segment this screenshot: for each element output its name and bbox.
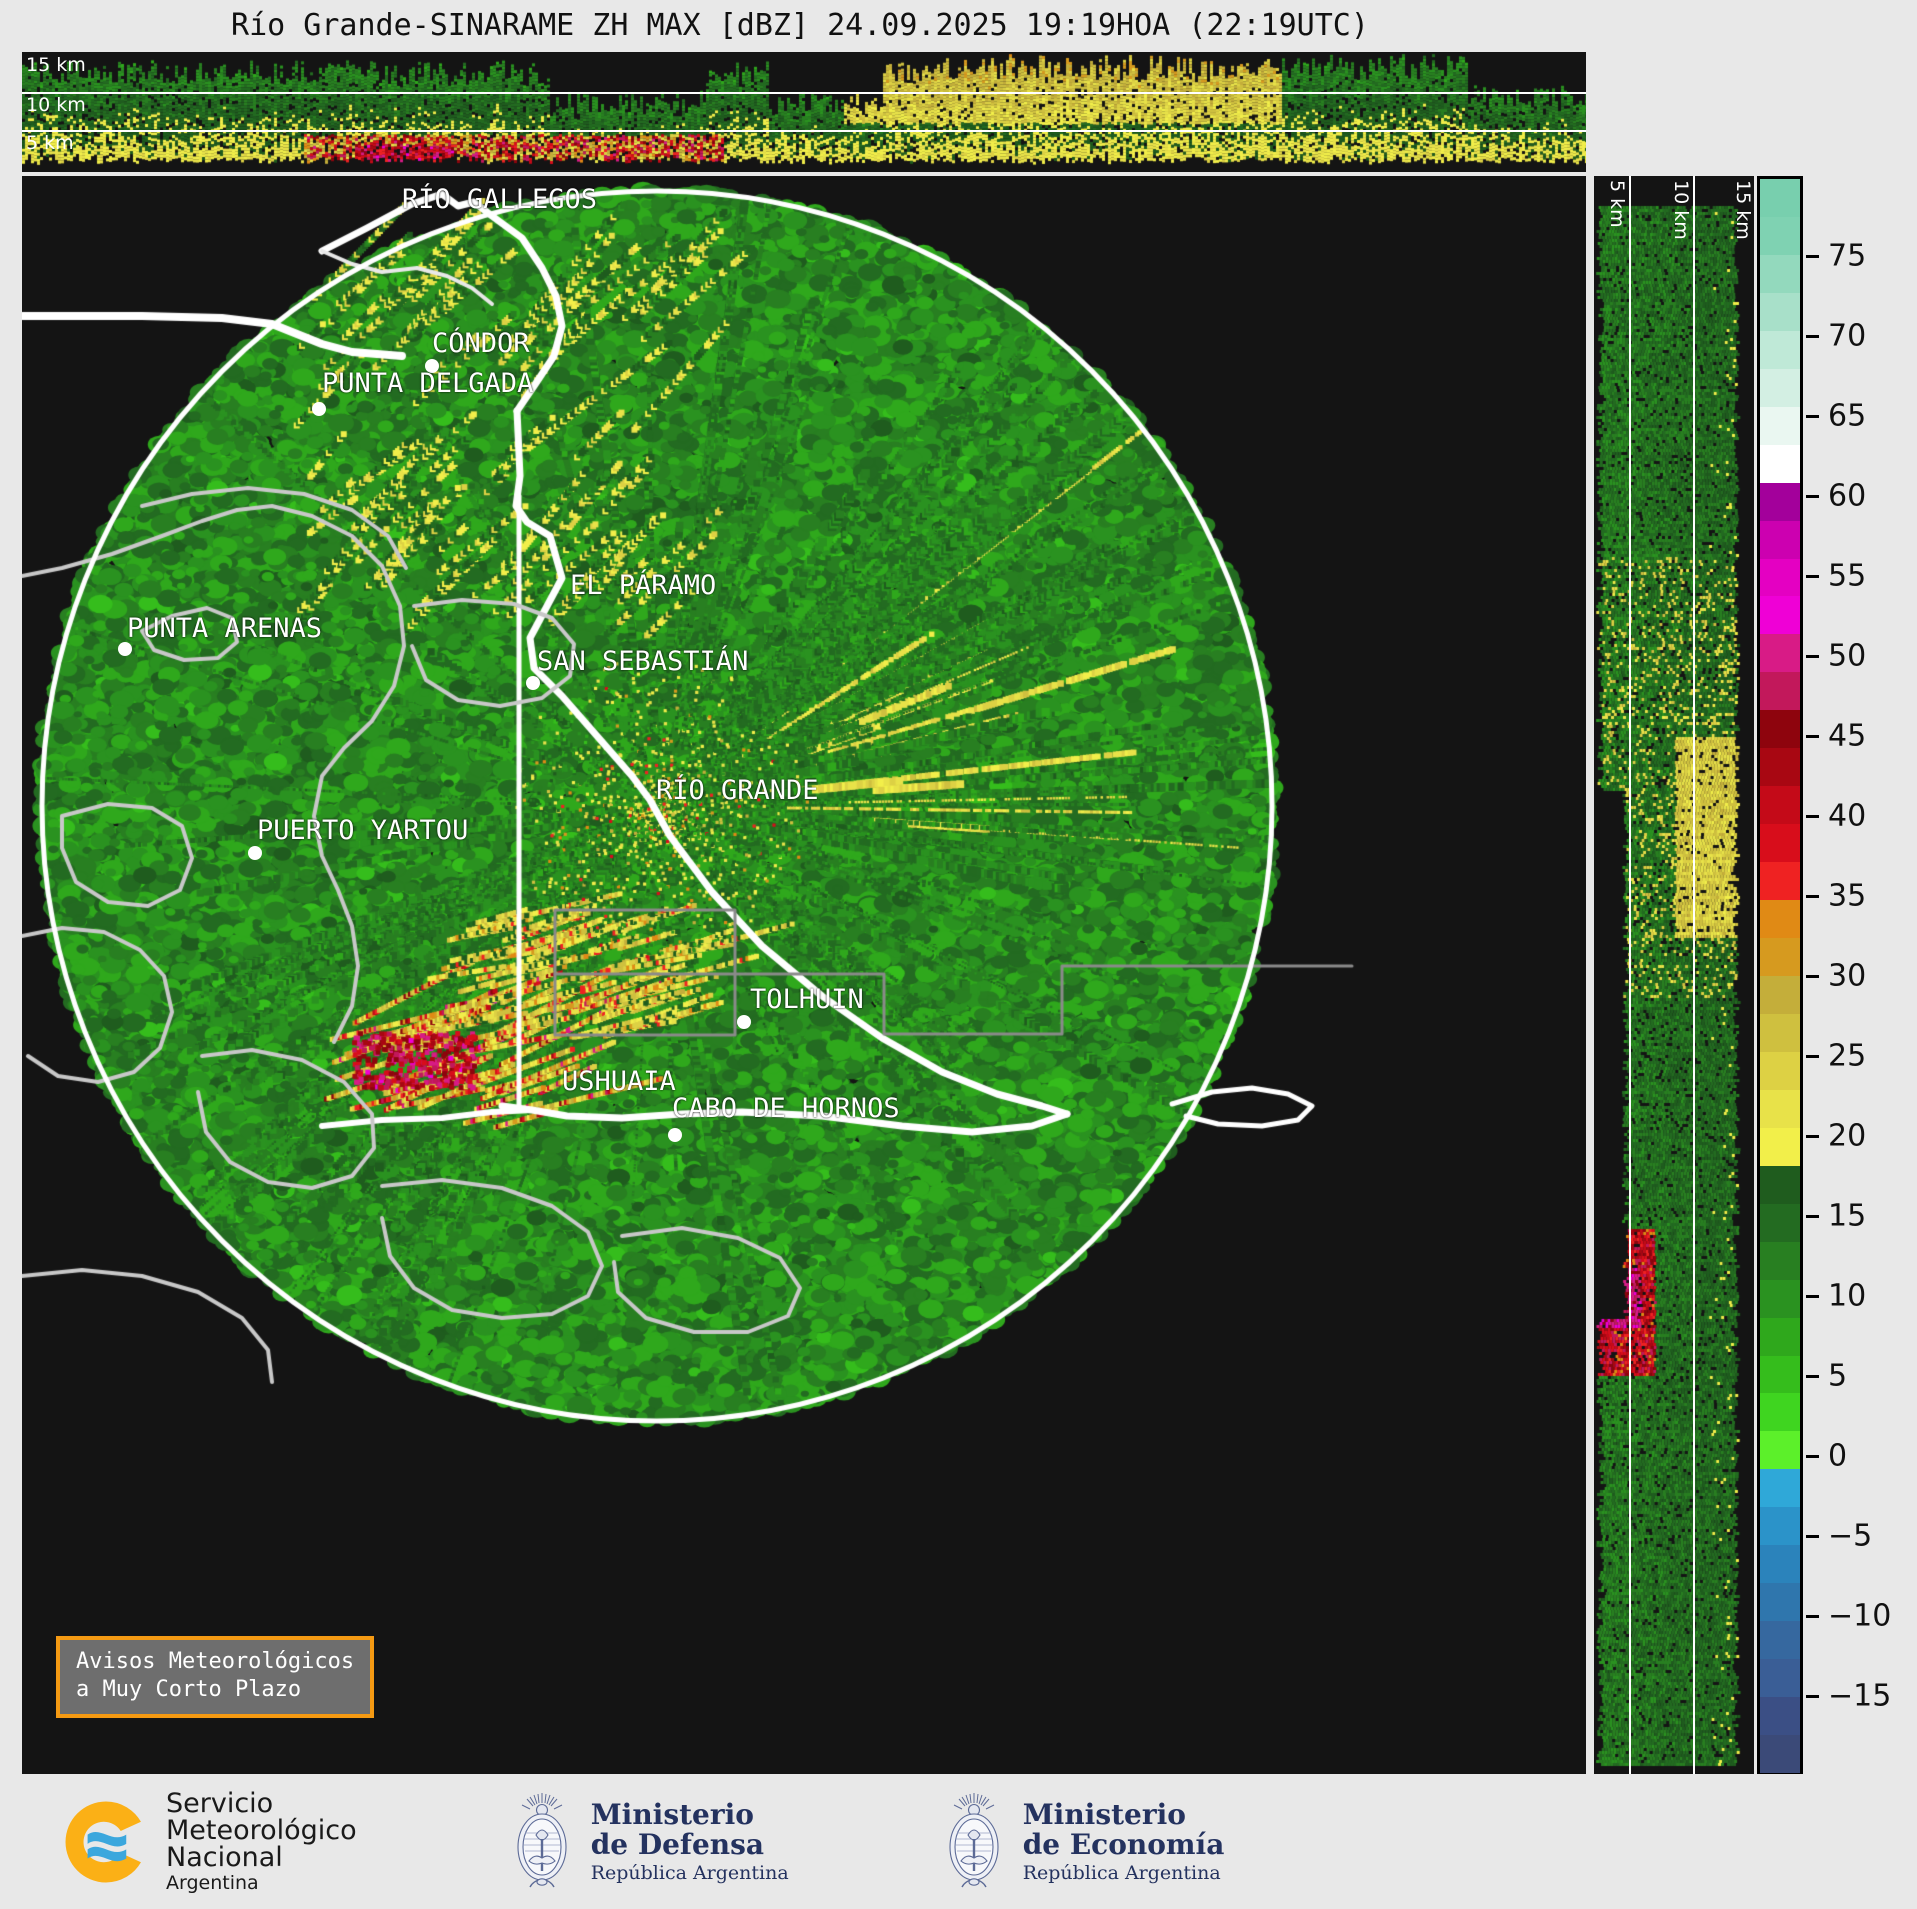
rxsec-label-10km: 10 km <box>1670 180 1692 240</box>
colorbar-band-2 <box>1760 1659 1800 1697</box>
right-cross-section-panel: 5 km 10 km 15 km <box>1594 176 1754 1776</box>
tick-label: 25 <box>1828 1039 1866 1074</box>
radar-reflectivity-canvas[interactable] <box>22 176 1586 1776</box>
smn-line4: Argentina <box>166 1874 357 1893</box>
city-label-punta-arenas: PUNTA ARENAS <box>127 613 322 644</box>
colorbar-band-39 <box>1760 255 1800 293</box>
tick-label: 15 <box>1828 1199 1866 1234</box>
colorbar-band-31 <box>1760 559 1800 597</box>
colorbar-band-28 <box>1760 672 1800 710</box>
colorbar-tick-labels: −15−10−5051015202530354045505560657075 <box>1806 176 1916 1776</box>
colorbar-gradient <box>1760 179 1800 1773</box>
smn-line2: Meteorológico <box>166 1817 357 1844</box>
rxsec-label-5km: 5 km <box>1606 180 1628 228</box>
tick-label: 35 <box>1828 879 1866 914</box>
colorbar-band-5 <box>1760 1545 1800 1583</box>
logo-ministerio-de-defensa: Ministerio de Defensa República Argentin… <box>507 1789 789 1894</box>
city-label-río-gallegos: RÍO GALLEGOS <box>402 184 597 215</box>
argentina-coat-of-arms-icon <box>507 1789 577 1894</box>
tick-mark <box>1806 1055 1819 1058</box>
colorbar-band-10 <box>1760 1356 1800 1394</box>
warnbox-line2: a Muy Corto Plazo <box>76 1676 354 1704</box>
city-label-punta-delgada: PUNTA DELGADA <box>322 368 533 399</box>
city-label-puerto-yartou: PUERTO YARTOU <box>257 815 468 846</box>
city-marker-dot <box>248 846 262 860</box>
tick-mark <box>1806 975 1819 978</box>
colorbar-band-19 <box>1760 1014 1800 1052</box>
top-cross-section-canvas <box>22 52 1586 172</box>
mineco-line3: República Argentina <box>1023 1863 1225 1883</box>
logo-servicio-meteorologico-nacional: Servicio Meteorológico Nacional Argentin… <box>60 1790 357 1893</box>
tick-label: 60 <box>1828 479 1866 514</box>
colorbar-band-15 <box>1760 1166 1800 1204</box>
tick-mark <box>1806 1695 1819 1698</box>
colorbar-band-32 <box>1760 521 1800 559</box>
colorbar-band-1 <box>1760 1697 1800 1735</box>
colorbar-band-13 <box>1760 1242 1800 1280</box>
xsec-label-10km: 10 km <box>26 96 86 115</box>
tick-mark <box>1806 495 1819 498</box>
tick-label: 70 <box>1828 319 1866 354</box>
colorbar-band-33 <box>1760 483 1800 521</box>
xsec-label-5km: 5 km <box>26 134 74 153</box>
top-cross-section-panel: 15 km 10 km 5 km <box>22 52 1586 172</box>
rxsec-gridline-10km <box>1693 176 1695 1776</box>
tick-label: 75 <box>1828 239 1866 274</box>
city-label-san-sebastián: SAN SEBASTIÁN <box>537 646 748 677</box>
tick-mark <box>1806 1455 1819 1458</box>
city-marker-dot <box>668 1128 682 1142</box>
tick-mark <box>1806 655 1819 658</box>
tick-mark <box>1806 735 1819 738</box>
colorbar-band-16 <box>1760 1128 1800 1166</box>
rxsec-label-15km: 15 km <box>1732 180 1754 240</box>
tick-mark <box>1806 415 1819 418</box>
city-label-cóndor: CÓNDOR <box>432 328 530 359</box>
colorbar-band-9 <box>1760 1393 1800 1431</box>
tick-mark <box>1806 815 1819 818</box>
tick-label: 55 <box>1828 559 1866 594</box>
city-label-el-páramo: EL PÁRAMO <box>570 570 716 601</box>
radar-product-page: Río Grande-SINARAME ZH MAX [dBZ] 24.09.2… <box>0 0 1917 1909</box>
colorbar-band-29 <box>1760 634 1800 672</box>
smn-line1: Servicio <box>166 1790 357 1817</box>
tick-mark <box>1806 1375 1819 1378</box>
tick-label: 5 <box>1828 1359 1847 1394</box>
colorbar-band-7 <box>1760 1469 1800 1507</box>
xsec-label-15km: 15 km <box>26 56 86 75</box>
tick-label: −10 <box>1828 1599 1891 1634</box>
tick-label: 30 <box>1828 959 1866 994</box>
tick-label: 50 <box>1828 639 1866 674</box>
tick-label: 40 <box>1828 799 1866 834</box>
tick-label: 0 <box>1828 1439 1847 1474</box>
colorbar-band-17 <box>1760 1090 1800 1128</box>
footer-logos: Servicio Meteorológico Nacional Argentin… <box>0 1774 1917 1909</box>
colorbar-band-22 <box>1760 900 1800 938</box>
tick-label: 20 <box>1828 1119 1866 1154</box>
colorbar-band-34 <box>1760 445 1800 483</box>
city-label-río-grande: RÍO GRANDE <box>656 775 819 806</box>
tick-mark <box>1806 1135 1819 1138</box>
tick-mark <box>1806 1535 1819 1538</box>
tick-mark <box>1806 255 1819 258</box>
page-title: Río Grande-SINARAME ZH MAX [dBZ] 24.09.2… <box>0 8 1600 43</box>
colorbar-band-27 <box>1760 710 1800 748</box>
city-label-tolhuin: TOLHUIN <box>750 984 864 1015</box>
xsec-gridline-5km <box>22 130 1586 132</box>
colorbar-band-0 <box>1760 1735 1800 1773</box>
tick-mark <box>1806 1215 1819 1218</box>
colorbar-band-36 <box>1760 369 1800 407</box>
colorbar-band-25 <box>1760 786 1800 824</box>
mindef-line1: Ministerio <box>591 1800 789 1830</box>
city-label-ushuaia: USHUAIA <box>562 1066 676 1097</box>
tick-mark <box>1806 1295 1819 1298</box>
colorbar-band-11 <box>1760 1318 1800 1356</box>
tick-mark <box>1806 1615 1819 1618</box>
colorbar-band-8 <box>1760 1431 1800 1469</box>
warnbox-line1: Avisos Meteorológicos <box>76 1648 354 1676</box>
city-marker-dot <box>118 642 132 656</box>
smn-line3: Nacional <box>166 1844 357 1871</box>
colorbar-band-30 <box>1760 596 1800 634</box>
city-marker-dot <box>526 676 540 690</box>
tick-label: 65 <box>1828 399 1866 434</box>
colorbar-band-6 <box>1760 1507 1800 1545</box>
city-label-cabo-de-hornos: CABO DE HORNOS <box>672 1093 900 1124</box>
colorbar-band-40 <box>1760 217 1800 255</box>
mineco-line1: Ministerio <box>1023 1800 1225 1830</box>
rxsec-gridline-5km <box>1629 176 1631 1776</box>
colorbar-band-14 <box>1760 1204 1800 1242</box>
colorbar-band-37 <box>1760 331 1800 369</box>
colorbar <box>1757 176 1803 1776</box>
colorbar-band-23 <box>1760 862 1800 900</box>
logo-ministerio-de-economia: Ministerio de Economía República Argenti… <box>939 1789 1225 1894</box>
argentina-coat-of-arms-icon <box>939 1789 1009 1894</box>
tick-mark <box>1806 335 1819 338</box>
colorbar-band-21 <box>1760 938 1800 976</box>
tick-label: 45 <box>1828 719 1866 754</box>
mindef-line3: República Argentina <box>591 1863 789 1883</box>
xsec-gridline-10km <box>22 92 1586 94</box>
smn-logo-icon <box>60 1796 152 1888</box>
city-marker-dot <box>737 1015 751 1029</box>
colorbar-band-3 <box>1760 1621 1800 1659</box>
tick-mark <box>1806 895 1819 898</box>
mineco-line2: de Economía <box>1023 1830 1225 1860</box>
mindef-line2: de Defensa <box>591 1830 789 1860</box>
colorbar-band-41 <box>1760 179 1800 217</box>
colorbar-band-38 <box>1760 293 1800 331</box>
colorbar-band-26 <box>1760 748 1800 786</box>
tick-mark <box>1806 575 1819 578</box>
tick-label: −15 <box>1828 1679 1891 1714</box>
city-marker-dot <box>312 402 326 416</box>
tick-label: −5 <box>1828 1519 1872 1554</box>
colorbar-band-4 <box>1760 1583 1800 1621</box>
colorbar-band-20 <box>1760 976 1800 1014</box>
radar-ppi-panel[interactable]: RÍO GALLEGOSCÓNDORPUNTA DELGADAEL PÁRAMO… <box>22 176 1586 1776</box>
colorbar-band-35 <box>1760 407 1800 445</box>
colorbar-band-24 <box>1760 824 1800 862</box>
tick-label: 10 <box>1828 1279 1866 1314</box>
status-badge-avisos[interactable]: Avisos Meteorológicos a Muy Corto Plazo <box>56 1636 374 1718</box>
colorbar-band-12 <box>1760 1280 1800 1318</box>
colorbar-band-18 <box>1760 1052 1800 1090</box>
right-cross-section-canvas <box>1594 176 1754 1776</box>
